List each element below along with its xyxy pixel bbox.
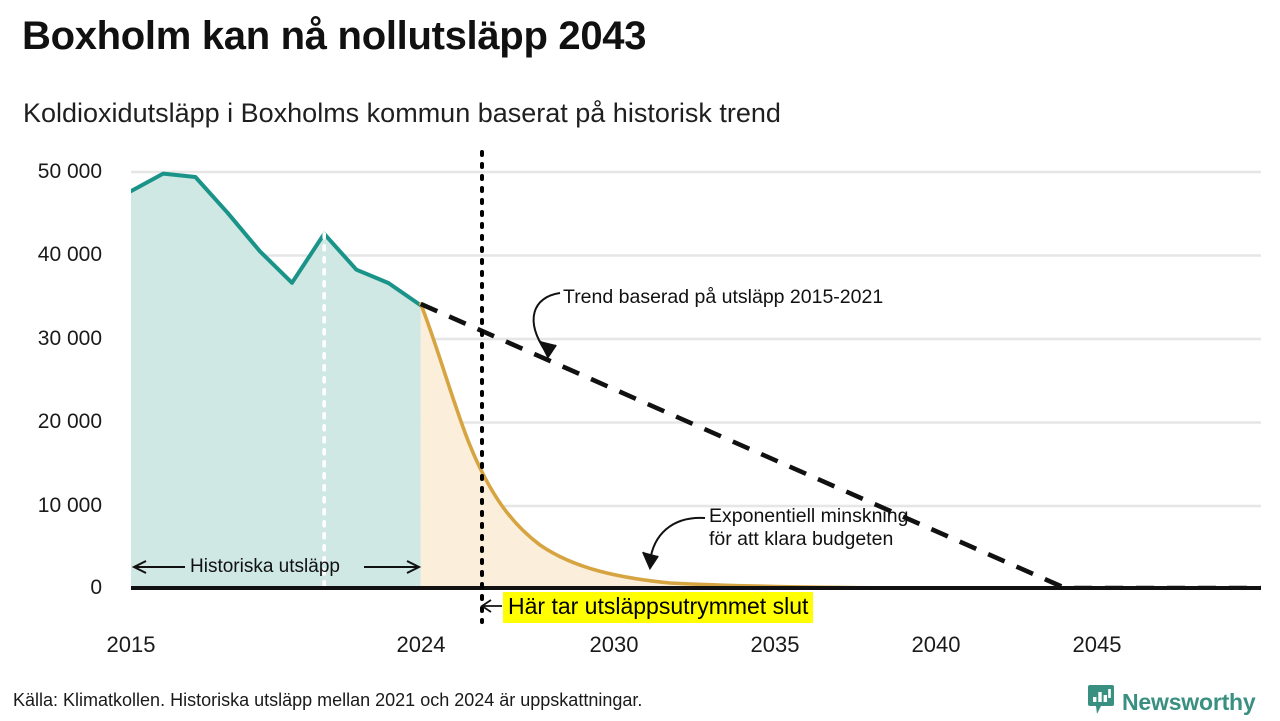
x-tick-2030: 2030 (590, 632, 639, 658)
x-tick-2035: 2035 (751, 632, 800, 658)
exponential-annotation-arrow (643, 518, 705, 568)
y-tick-10000: 10 000 (0, 494, 102, 518)
newsworthy-logo[interactable]: Newsworthy (1087, 684, 1255, 721)
budget-depleted-arrow (482, 600, 502, 612)
y-tick-50000: 50 000 (0, 160, 102, 184)
historical-series (131, 174, 421, 588)
x-tick-2040: 2040 (912, 632, 961, 658)
y-tick-20000: 20 000 (0, 410, 102, 434)
newsworthy-wordmark: Newsworthy (1122, 689, 1255, 716)
historical-area-fill (131, 174, 421, 588)
trend-annotation-label: Trend baserad på utsläpp 2015-2021 (563, 286, 883, 309)
budget-depleted-label: Här tar utsläppsutrymmet slut (503, 592, 813, 623)
trend-annotation-arrow (534, 293, 560, 357)
x-tick-2024: 2024 (397, 632, 446, 658)
chart-page: Boxholm kan nå nollutsläpp 2043 Koldioxi… (0, 0, 1280, 720)
y-tick-40000: 40 000 (0, 243, 102, 267)
exponential-annotation-label: Exponentiell minskning för att klara bud… (709, 505, 908, 551)
x-tick-2045: 2045 (1073, 632, 1122, 658)
historical-span-label: Historiska utsläpp (190, 556, 340, 578)
x-tick-2015: 2015 (107, 632, 156, 658)
y-tick-0: 0 (0, 576, 102, 600)
exponential-annotation-line1: Exponentiell minskning (709, 505, 908, 528)
newsworthy-bubble-icon (1087, 684, 1115, 721)
source-note: Källa: Klimatkollen. Historiska utsläpp … (13, 690, 642, 711)
y-tick-30000: 30 000 (0, 327, 102, 351)
exponential-annotation-line2: för att klara budgeten (709, 528, 908, 551)
